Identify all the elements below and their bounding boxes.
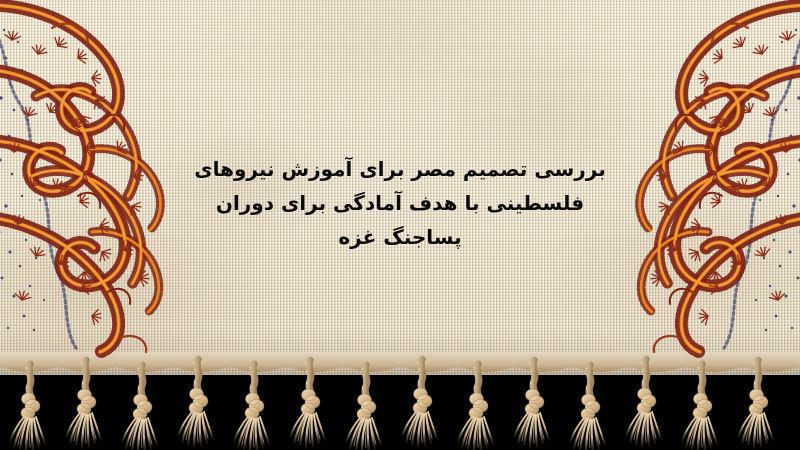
image-canvas: بررسی تصمیم مصر برای آموزش نیروهای فلسطی… xyxy=(0,0,800,450)
embroidery-ornament-left xyxy=(0,0,262,360)
tassel-fringe xyxy=(0,352,800,450)
tassel-row xyxy=(10,359,773,450)
embroidery-ornament-right xyxy=(538,0,800,360)
